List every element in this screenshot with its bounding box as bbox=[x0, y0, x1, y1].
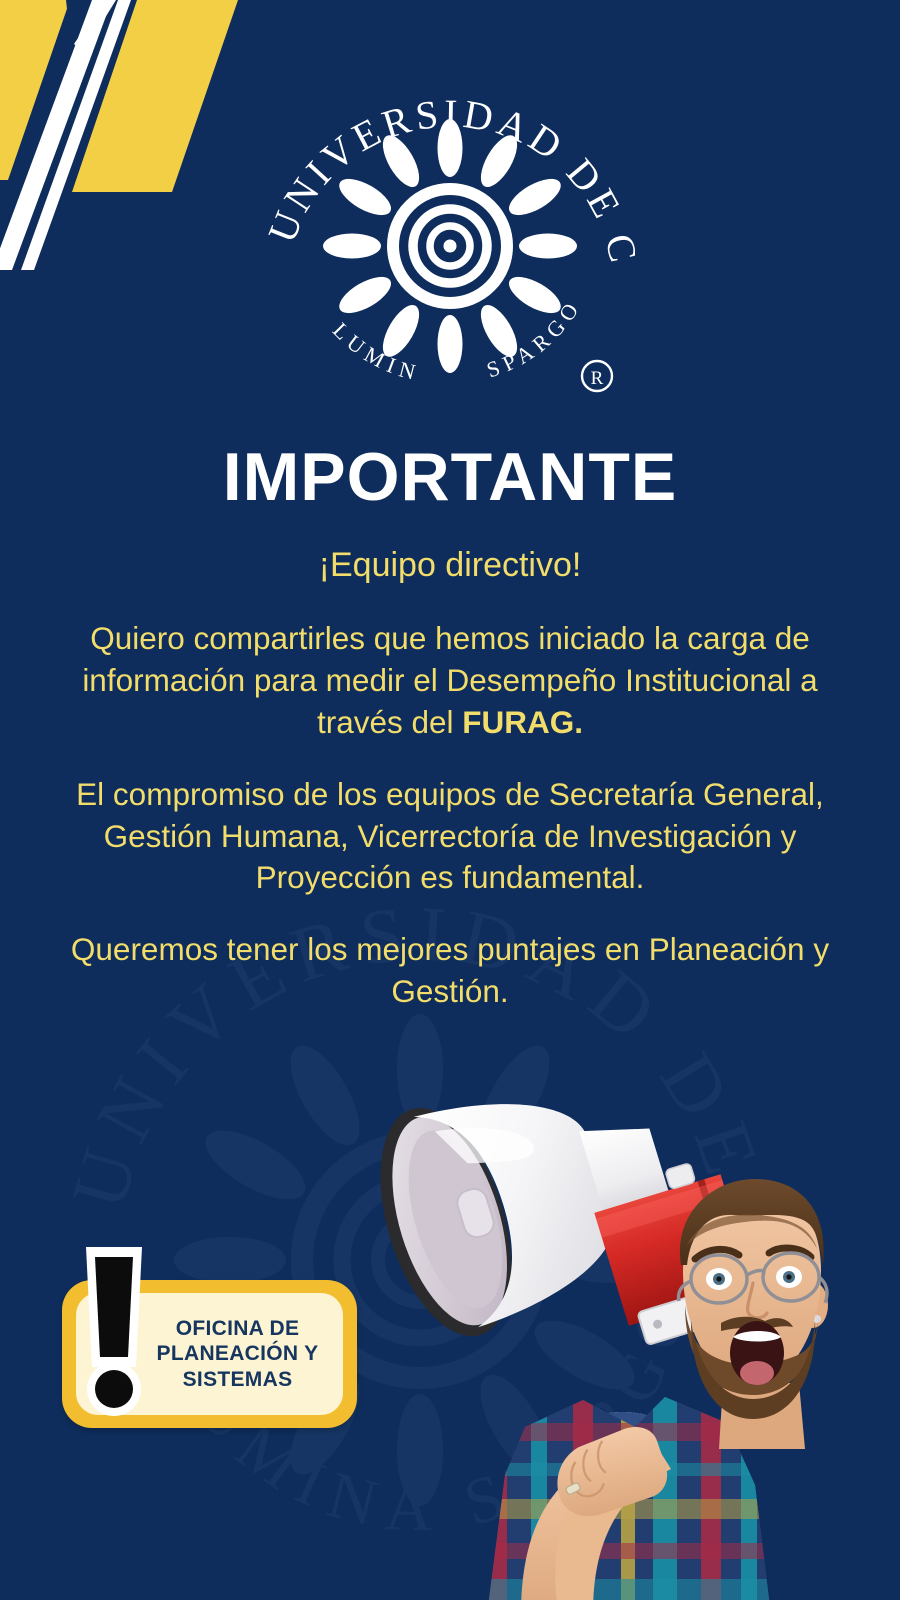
man-shouting-into-megaphone-photo bbox=[335, 1055, 900, 1600]
universidad-de-caldas-logo: UNIVERSIDAD DE CALDAS LUMINA SPARGO bbox=[265, 58, 635, 408]
office-badge-line-3: SISTEMAS bbox=[157, 1367, 319, 1393]
svg-text:R: R bbox=[591, 368, 604, 389]
message-body: Quiero compartirles que hemos iniciado l… bbox=[50, 618, 850, 1013]
body-paragraph-2: El compromiso de los equipos de Secretar… bbox=[50, 774, 850, 900]
body-paragraph-1: Quiero compartirles que hemos iniciado l… bbox=[50, 618, 850, 744]
body-paragraph-1-text: Quiero compartirles que hemos iniciado l… bbox=[82, 620, 817, 740]
registered-trademark-icon: R bbox=[582, 361, 612, 391]
page-subtitle: ¡Equipo directivo! bbox=[0, 545, 900, 586]
office-badge-line-2: PLANEACIÓN Y bbox=[157, 1341, 319, 1367]
page-title: IMPORTANTE bbox=[0, 443, 900, 511]
body-paragraph-3: Queremos tener los mejores puntajes en P… bbox=[50, 929, 850, 1013]
exclamation-mark-icon bbox=[78, 1243, 150, 1423]
corner-chevron-decoration bbox=[0, 0, 260, 270]
furag-keyword: FURAG. bbox=[462, 704, 583, 740]
office-badge-line-1: OFICINA DE bbox=[157, 1316, 319, 1342]
poster-canvas: UNIVERSIDAD DE CALDAS LUMINA SPARGO bbox=[0, 0, 900, 1600]
